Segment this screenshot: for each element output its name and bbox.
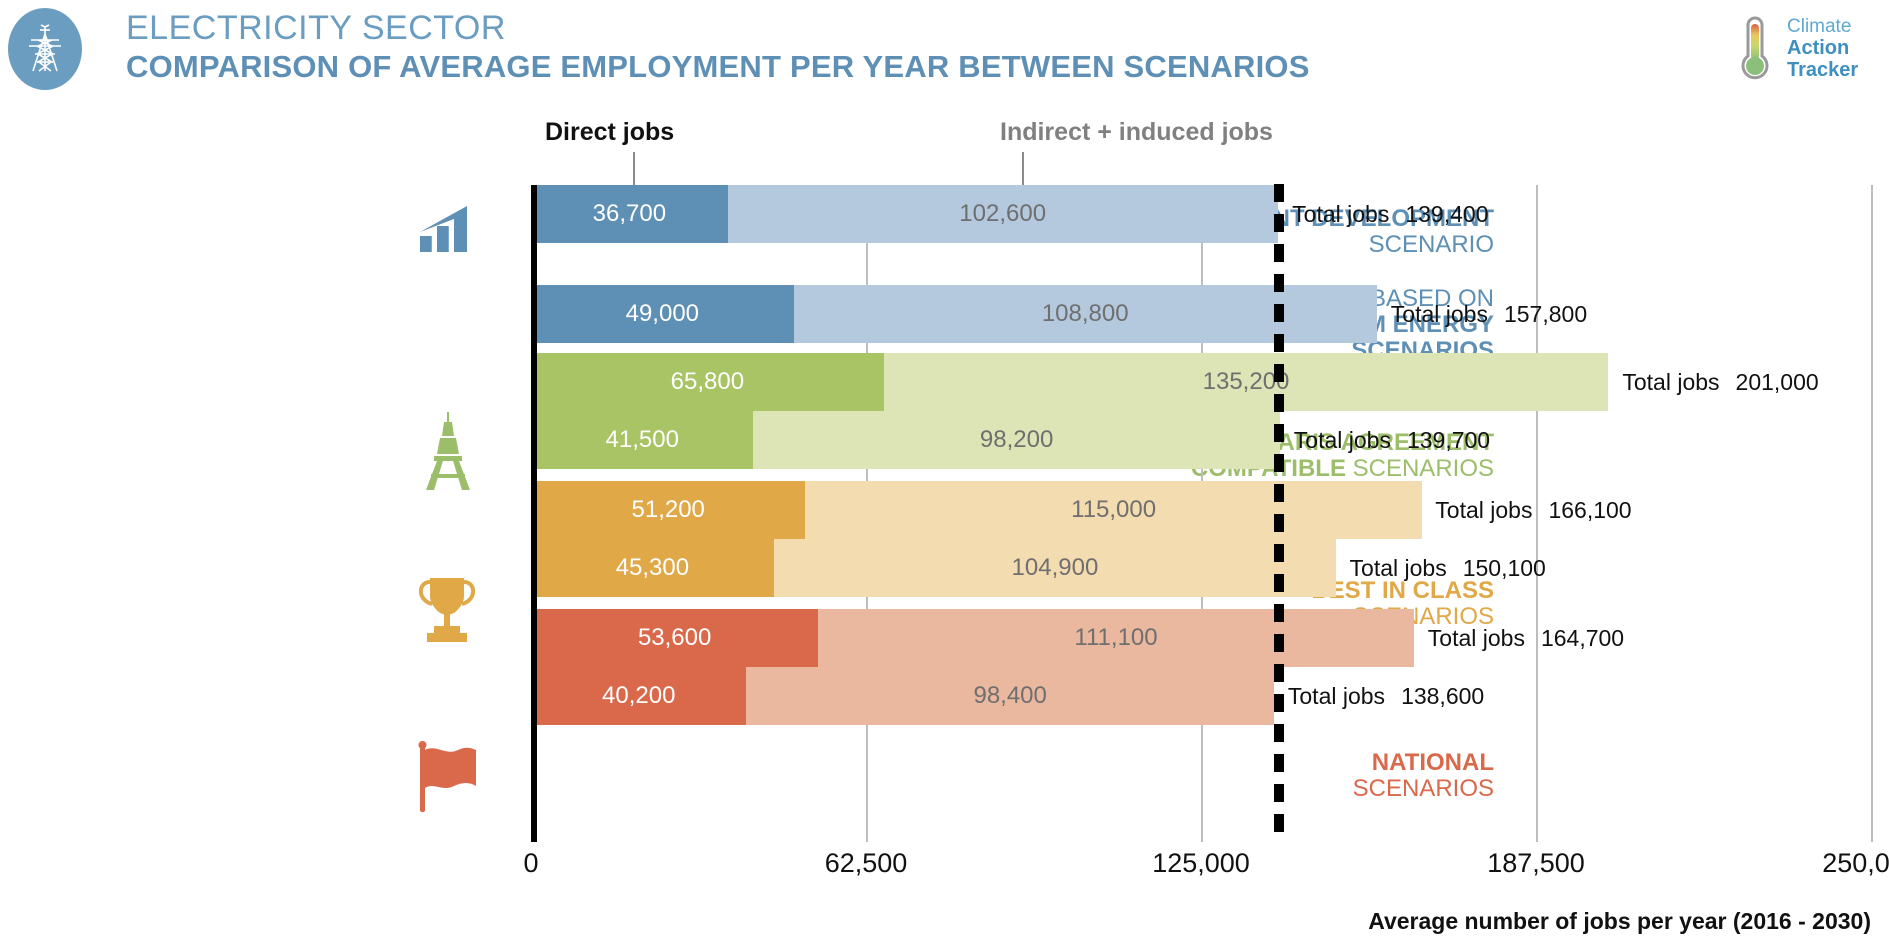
bar-row[interactable]: 51,200115,000 bbox=[531, 481, 1421, 539]
y-axis-line bbox=[531, 185, 537, 842]
bar-row[interactable]: 45,300104,900 bbox=[531, 539, 1336, 597]
header-subtitle: ELECTRICITY SECTOR bbox=[126, 8, 1310, 48]
bar-segment-direct[interactable]: 40,200 bbox=[531, 667, 746, 725]
x-axis-tick-label: 0 bbox=[523, 848, 538, 879]
bar-total-label: Total jobs139,700 bbox=[1294, 411, 1490, 469]
bar-total-label: Total jobs138,600 bbox=[1288, 667, 1484, 725]
bar-segment-indirect[interactable]: 102,600 bbox=[728, 185, 1278, 243]
logo-word-tracker: Tracker bbox=[1787, 59, 1858, 81]
bar-value-indirect: 104,900 bbox=[1012, 554, 1099, 582]
flag-icon bbox=[412, 740, 482, 819]
bar-value-indirect: 98,400 bbox=[973, 682, 1046, 710]
bar-value-direct: 51,200 bbox=[632, 496, 705, 524]
total-jobs-value: 139,400 bbox=[1405, 201, 1488, 228]
total-jobs-value: 138,600 bbox=[1401, 683, 1484, 710]
bar-row[interactable]: 36,700102,600 bbox=[531, 185, 1278, 243]
bar-segment-direct[interactable]: 49,000 bbox=[531, 285, 794, 343]
bar-segment-indirect[interactable]: 98,200 bbox=[753, 411, 1279, 469]
total-jobs-prefix: Total jobs bbox=[1350, 555, 1447, 582]
total-jobs-prefix: Total jobs bbox=[1391, 301, 1488, 328]
bar-value-direct: 40,200 bbox=[602, 682, 675, 710]
bar-value-indirect: 98,200 bbox=[980, 426, 1053, 454]
bar-value-direct: 53,600 bbox=[638, 624, 711, 652]
x-axis-tick-label: 187,500 bbox=[1487, 848, 1585, 879]
total-jobs-prefix: Total jobs bbox=[1435, 497, 1532, 524]
total-jobs-value: 201,000 bbox=[1736, 369, 1819, 396]
total-jobs-value: 166,100 bbox=[1548, 497, 1631, 524]
bar-segment-direct[interactable]: 45,300 bbox=[531, 539, 774, 597]
page-title: COMPARISON OF AVERAGE EMPLOYMENT PER YEA… bbox=[126, 48, 1310, 86]
total-jobs-prefix: Total jobs bbox=[1294, 427, 1391, 454]
total-jobs-prefix: Total jobs bbox=[1288, 683, 1385, 710]
x-axis-tick-label: 125,000 bbox=[1152, 848, 1250, 879]
x-axis-tick-label: 250,000 bbox=[1822, 848, 1889, 879]
bar-segment-direct[interactable]: 36,700 bbox=[531, 185, 728, 243]
total-jobs-value: 139,700 bbox=[1407, 427, 1490, 454]
total-jobs-prefix: Total jobs bbox=[1428, 625, 1525, 652]
bar-total-label: Total jobs157,800 bbox=[1391, 285, 1587, 343]
growth-chart-icon bbox=[418, 202, 480, 259]
transmission-tower-icon bbox=[8, 8, 82, 90]
bar-value-indirect: 102,600 bbox=[959, 200, 1046, 228]
plot-area: 36,700102,600Total jobs139,40049,000108,… bbox=[531, 185, 1871, 842]
bar-total-label: Total jobs201,000 bbox=[1622, 353, 1818, 411]
bar-segment-indirect[interactable]: 111,100 bbox=[818, 609, 1413, 667]
total-jobs-value: 157,800 bbox=[1504, 301, 1587, 328]
bar-row[interactable]: 65,800135,200 bbox=[531, 353, 1608, 411]
legend-pointer-indirect bbox=[1022, 152, 1024, 187]
bar-segment-direct[interactable]: 53,600 bbox=[531, 609, 818, 667]
bar-total-label: Total jobs150,100 bbox=[1350, 539, 1546, 597]
logo-word-action: Action bbox=[1787, 37, 1858, 59]
bar-segment-indirect[interactable]: 115,000 bbox=[805, 481, 1421, 539]
header-titles: ELECTRICITY SECTOR COMPARISON OF AVERAGE… bbox=[126, 8, 1310, 86]
legend-direct-jobs: Direct jobs bbox=[545, 118, 674, 147]
bar-value-direct: 65,800 bbox=[671, 368, 744, 396]
eiffel-tower-icon bbox=[420, 412, 476, 495]
thermometer-icon bbox=[1731, 12, 1781, 84]
page-header: ELECTRICITY SECTOR COMPARISON OF AVERAGE… bbox=[0, 0, 1889, 100]
climate-action-tracker-logo: Climate Action Tracker bbox=[1731, 12, 1871, 86]
bar-total-label: Total jobs166,100 bbox=[1435, 481, 1631, 539]
x-axis-title: Average number of jobs per year (2016 - … bbox=[1368, 908, 1871, 935]
bar-value-direct: 49,000 bbox=[626, 300, 699, 328]
bar-row[interactable]: 49,000108,800 bbox=[531, 285, 1377, 343]
bar-value-indirect: 108,800 bbox=[1042, 300, 1129, 328]
reference-line bbox=[1274, 184, 1284, 843]
total-jobs-prefix: Total jobs bbox=[1292, 201, 1389, 228]
legend-indirect-jobs: Indirect + induced jobs bbox=[1000, 118, 1273, 147]
chart-page: ELECTRICITY SECTOR COMPARISON OF AVERAGE… bbox=[0, 0, 1889, 946]
bar-value-direct: 45,300 bbox=[616, 554, 689, 582]
logo-word-climate: Climate bbox=[1787, 16, 1858, 37]
bar-segment-indirect[interactable]: 135,200 bbox=[884, 353, 1609, 411]
bar-value-direct: 41,500 bbox=[606, 426, 679, 454]
total-jobs-value: 150,100 bbox=[1463, 555, 1546, 582]
bar-row[interactable]: 40,20098,400 bbox=[531, 667, 1274, 725]
bar-row[interactable]: 41,50098,200 bbox=[531, 411, 1280, 469]
bar-segment-indirect[interactable]: 108,800 bbox=[794, 285, 1377, 343]
x-axis-tick-label: 62,500 bbox=[825, 848, 908, 879]
total-jobs-value: 164,700 bbox=[1541, 625, 1624, 652]
bar-segment-direct[interactable]: 51,200 bbox=[531, 481, 805, 539]
bar-total-label: Total jobs164,700 bbox=[1428, 609, 1624, 667]
trophy-icon bbox=[412, 572, 482, 653]
bar-total-label: Total jobs139,400 bbox=[1292, 185, 1488, 243]
legend-pointer-direct bbox=[633, 152, 635, 187]
bar-segment-indirect[interactable]: 98,400 bbox=[746, 667, 1273, 725]
bar-value-indirect: 115,000 bbox=[1071, 496, 1156, 524]
bar-segment-direct[interactable]: 41,500 bbox=[531, 411, 753, 469]
bar-segment-direct[interactable]: 65,800 bbox=[531, 353, 884, 411]
gridline bbox=[1871, 185, 1873, 842]
bar-value-direct: 36,700 bbox=[593, 200, 666, 228]
bar-value-indirect: 111,100 bbox=[1074, 624, 1157, 652]
bar-segment-indirect[interactable]: 104,900 bbox=[774, 539, 1336, 597]
total-jobs-prefix: Total jobs bbox=[1622, 369, 1719, 396]
